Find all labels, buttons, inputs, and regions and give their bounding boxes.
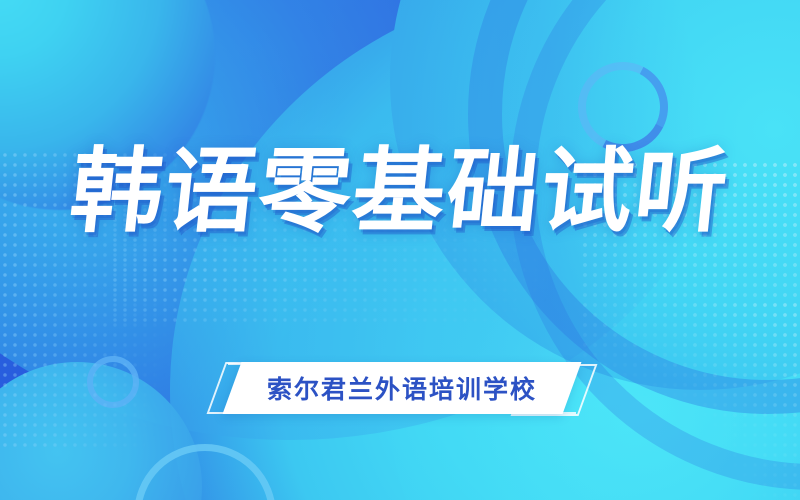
school-name-label: 索尔君兰外语培训学校 [232,362,572,414]
headline-title: 韩语零基础试听 [0,146,800,238]
school-name-banner: 索尔君兰外语培训学校 [0,358,800,422]
promo-banner-canvas: 韩语零基础试听 索尔君兰外语培训学校 [0,0,800,500]
